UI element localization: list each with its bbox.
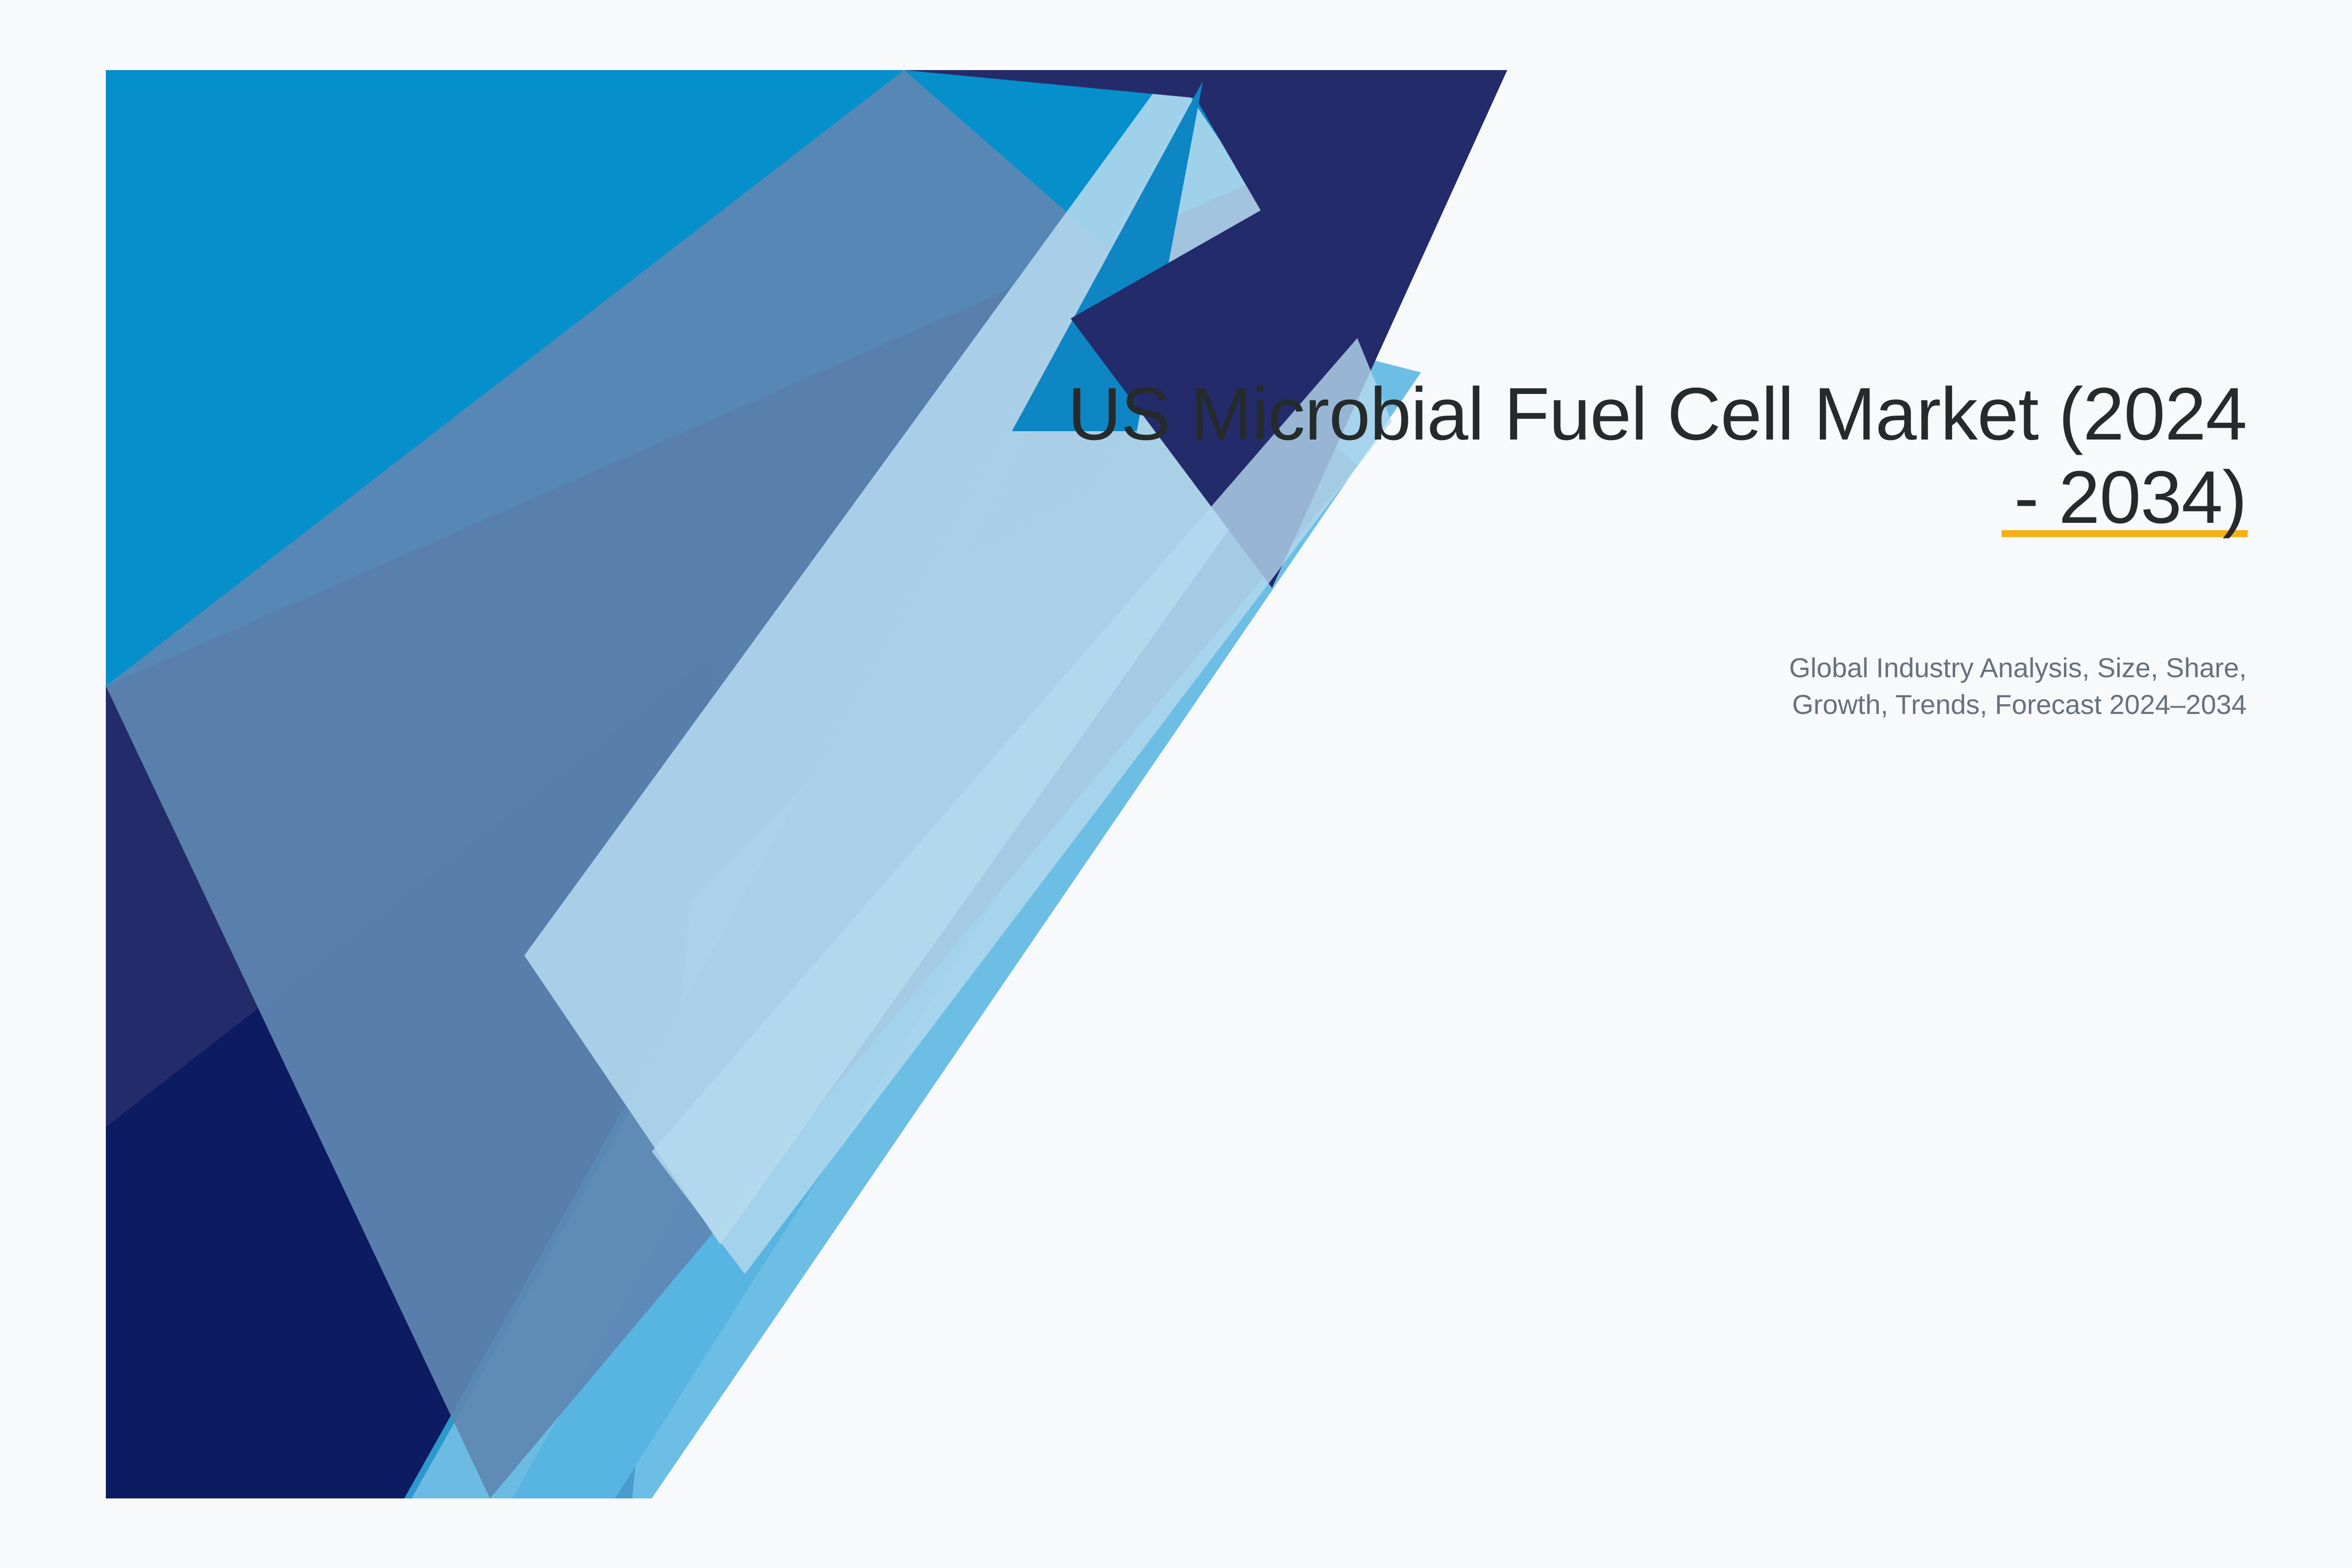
title-block: US Microbial Fuel Cell Market (2024 - 20… [833,372,2247,539]
shape-navy-crest [904,70,1507,377]
shape-sky-sliver [404,81,1201,1498]
decorative-artwork [0,0,2352,1568]
report-cover-page: US Microbial Fuel Cell Market (2024 - 20… [0,0,2352,1568]
shape-navy-wedge [106,70,1507,1498]
shape-navy-main [106,70,1507,1498]
page-title: US Microbial Fuel Cell Market (2024 - 20… [833,372,2247,539]
shape-deep-navy-lower [106,652,715,1498]
shape-cyan-base [106,70,1507,1498]
page-subtitle: Global Industry Analysis, Size, Share, G… [833,649,2247,723]
shape-deep-navy-blade [323,652,715,1498]
shape-steel-quad [106,70,1357,1498]
